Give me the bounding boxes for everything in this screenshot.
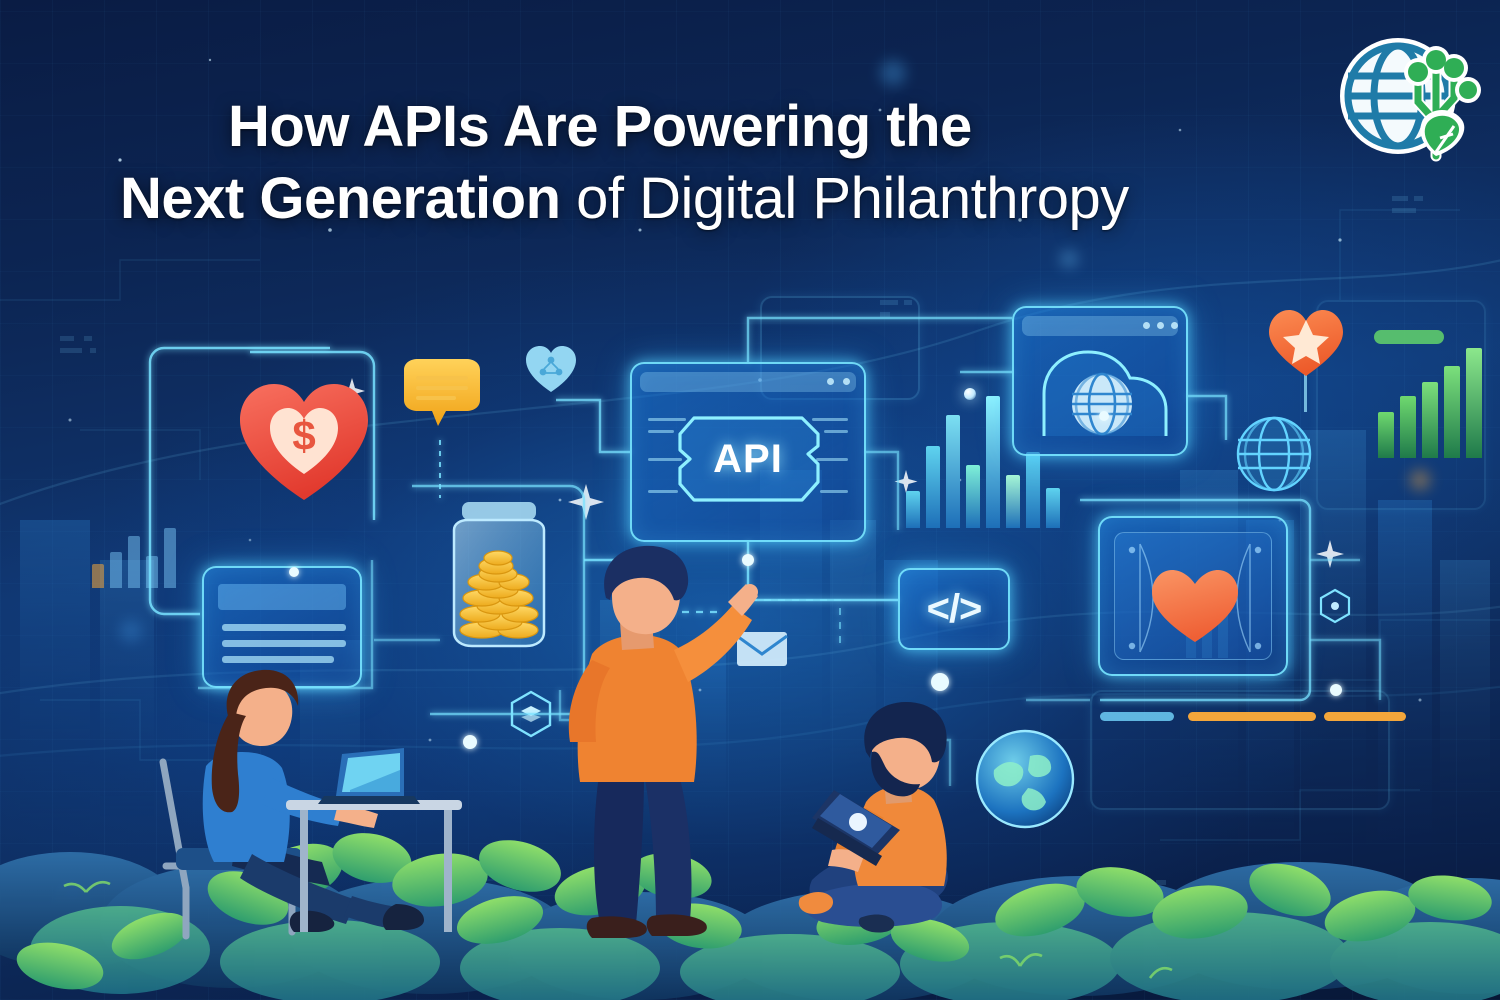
man-standing-pointing xyxy=(569,546,758,938)
title-line-2-thin: of Digital Philanthropy xyxy=(561,166,1129,231)
title-line-2-bold: Next Generation xyxy=(120,166,561,231)
globe-circuit-tree-logo[interactable] xyxy=(1336,14,1484,164)
title-line-1: How APIs Are Powering the xyxy=(120,92,1410,162)
hero-illustration: $ xyxy=(0,0,1500,1000)
title-line-2: Next Generation of Digital Philanthropy xyxy=(120,162,1410,236)
man-sitting-crosslegged-with-laptop xyxy=(799,702,948,933)
woman-at-desk-with-laptop xyxy=(163,670,462,936)
page-title: How APIs Are Powering the Next Generatio… xyxy=(120,92,1410,236)
